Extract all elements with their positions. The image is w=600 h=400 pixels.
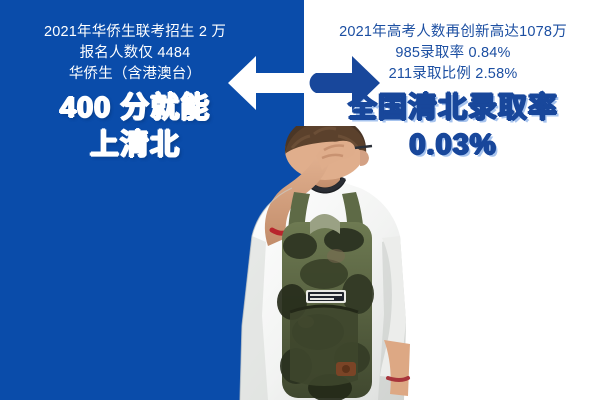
right-line-1: 2021年高考人数再创新高达1078万 <box>306 22 600 43</box>
right-headline-2: 0.03% <box>306 128 600 163</box>
arrow-right-icon <box>302 54 382 112</box>
right-wrist-band <box>388 378 408 380</box>
arrow-left-icon <box>226 54 306 112</box>
left-line-1: 2021年华侨生联考招生 2 万 <box>0 22 270 43</box>
student-backpack <box>277 192 374 400</box>
infographic-canvas: 2021年华侨生联考招生 2 万 报名人数仅 4484 华侨生（含港澳台） 40… <box>0 0 600 400</box>
left-headline-2: 上清北 <box>0 128 270 163</box>
student-photo <box>232 126 418 400</box>
